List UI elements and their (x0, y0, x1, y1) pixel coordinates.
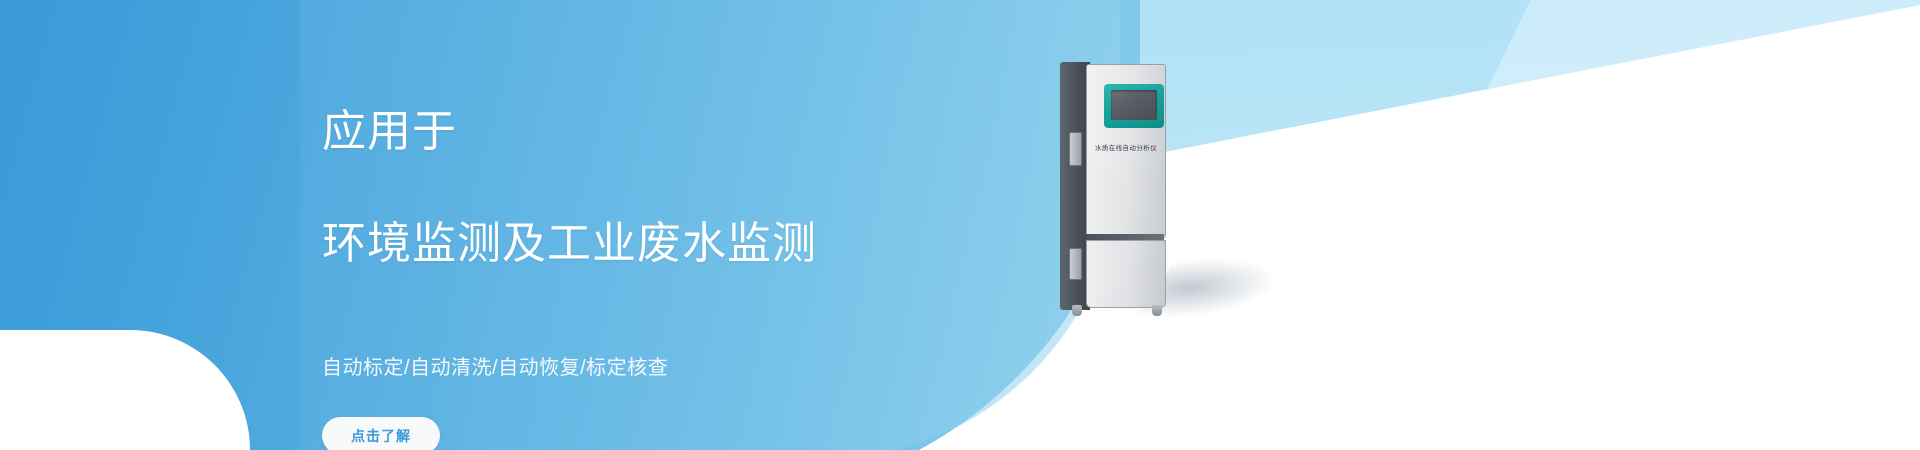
learn-more-button[interactable]: 点击了解 (322, 417, 440, 450)
product-image-water-analyzer: 水质在线自动分析仪 (1060, 62, 1188, 314)
headline-line-1: 应用于 (322, 104, 1082, 160)
headline-line-2: 环境监测及工业废水监测 (322, 216, 1082, 272)
cabinet-upper-handle (1069, 132, 1082, 166)
banner-copy: 应用于 环境监测及工业废水监测 自动标定/自动清洗/自动恢复/标定核查 点击了解 (322, 48, 1082, 450)
cabinet-lower-handle (1069, 248, 1082, 280)
caster-left (1072, 305, 1082, 316)
caster-right (1152, 305, 1162, 316)
display-screen (1111, 90, 1157, 120)
product-label: 水质在线自动分析仪 (1088, 142, 1164, 152)
hero-banner: 应用于 环境监测及工业废水监测 自动标定/自动清洗/自动恢复/标定核查 点击了解… (0, 0, 1920, 450)
cabinet-lower-compartment (1086, 240, 1166, 308)
page-title: 应用于 环境监测及工业废水监测 (322, 48, 1082, 327)
banner-subtitle: 自动标定/自动清洗/自动恢复/标定核查 (322, 353, 1082, 383)
